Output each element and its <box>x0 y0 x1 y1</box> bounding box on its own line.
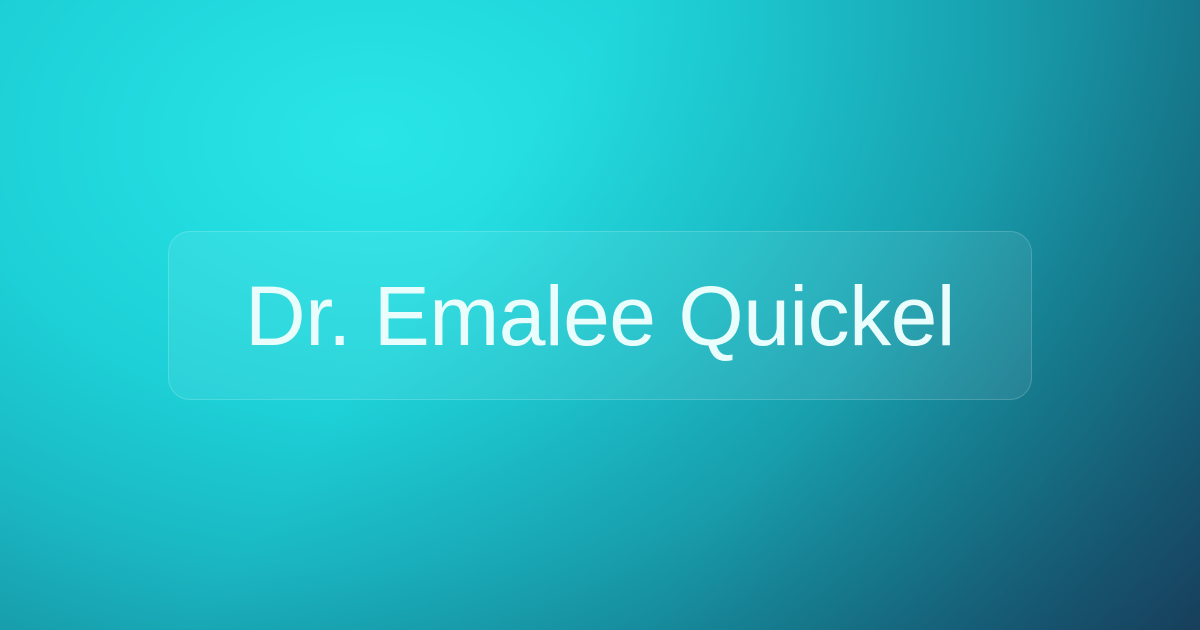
page-title: Dr. Emalee Quickel <box>245 274 955 358</box>
name-plate: Dr. Emalee Quickel <box>168 231 1032 400</box>
og-image-canvas: Dr. Emalee Quickel <box>0 0 1200 630</box>
